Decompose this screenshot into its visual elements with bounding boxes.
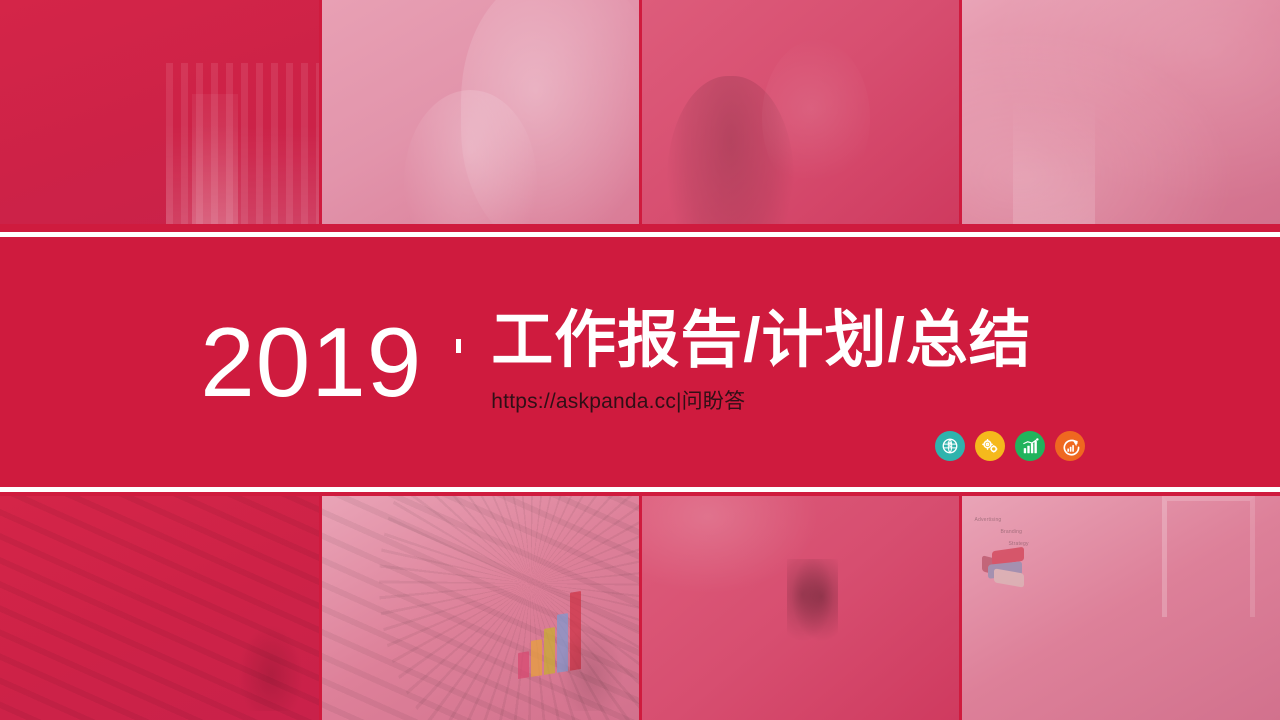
headline-block: 2019 工作报告/计划/总结 https://askpanda.cc|问盼答 <box>0 237 1280 487</box>
photo-strip-top <box>0 0 1280 224</box>
page-title: 工作报告/计划/总结 <box>491 309 1031 373</box>
panel-handshake <box>639 496 959 720</box>
pie-label-1: Branding <box>1000 526 1082 538</box>
globe-icon[interactable] <box>935 431 965 461</box>
icon-row <box>935 431 1085 461</box>
band-bottom-rule <box>0 487 1280 492</box>
pie-chart-decoration <box>978 545 1042 599</box>
source-url-label: https://askpanda.cc|问盼答 <box>491 385 1031 415</box>
panel-cityscape <box>0 0 319 224</box>
pie-label-0: Advertising <box>974 514 1082 526</box>
panel-city-haze <box>959 0 1280 224</box>
pie-label-2: Strategy <box>1008 538 1082 550</box>
panel-pavement-walker <box>0 496 319 720</box>
panel-man-with-phone <box>639 0 959 224</box>
photo-strip-bottom: Advertising Branding Strategy <box>0 496 1280 720</box>
growth-arrow-icon[interactable] <box>1055 431 1085 461</box>
panel-business-team <box>319 0 638 224</box>
bar-chart-decoration <box>518 585 581 679</box>
presentation-slide: 2019 工作报告/计划/总结 https://askpanda.cc|问盼答 <box>0 0 1280 720</box>
year-label: 2019 <box>200 313 456 411</box>
bar-chart-icon[interactable] <box>1015 431 1045 461</box>
panel-pie-chart: Advertising Branding Strategy <box>959 496 1280 720</box>
panel-bar-chart-clock <box>319 496 638 720</box>
gears-icon[interactable] <box>975 431 1005 461</box>
pie-chart-labels: Advertising Branding Strategy <box>974 514 1082 550</box>
